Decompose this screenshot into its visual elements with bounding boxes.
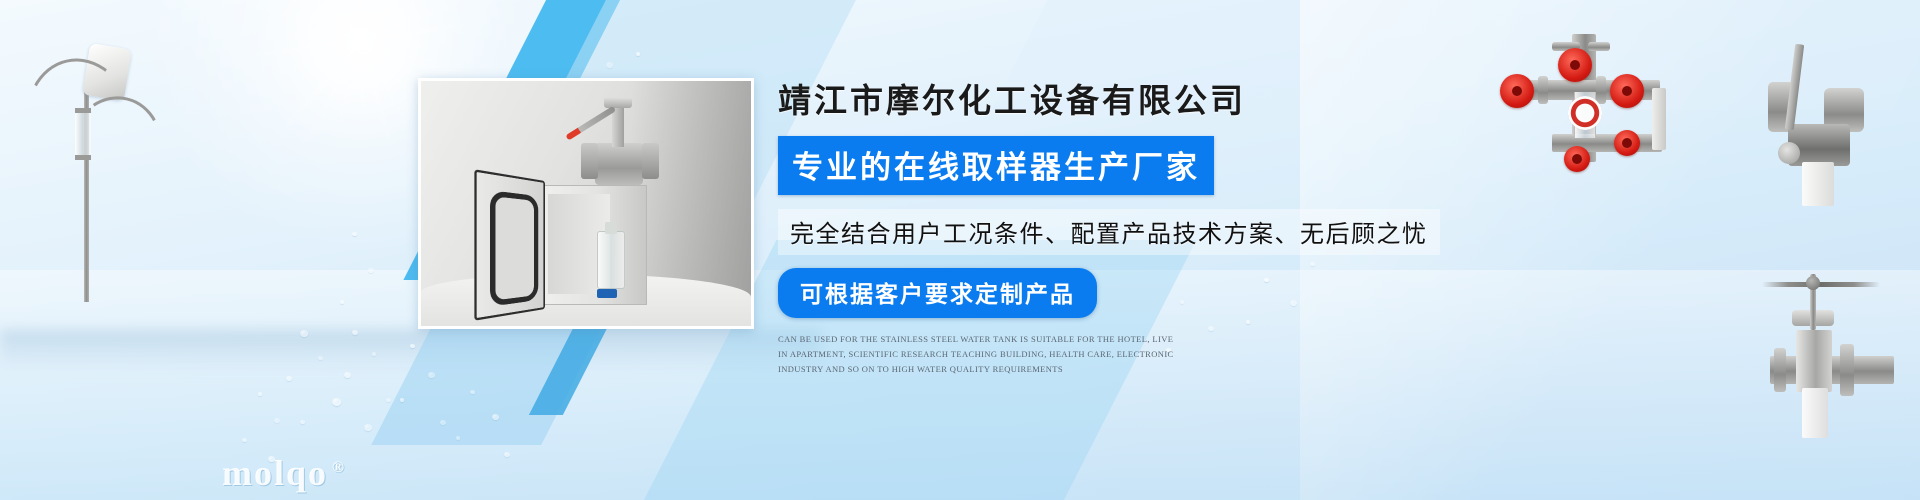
manifold-flange-right — [1596, 76, 1606, 104]
right-product-lever-valve — [1768, 30, 1898, 190]
water-droplet — [364, 424, 372, 431]
headline-badge: 专业的在线取样器生产厂家 — [778, 136, 1214, 195]
sun-ray — [306, 0, 414, 136]
water-droplet — [492, 414, 499, 420]
bottom-valve-pipe — [1770, 356, 1894, 384]
sun-ray — [324, 0, 397, 162]
relief-valve — [30, 172, 48, 198]
sample-bottle — [597, 231, 625, 289]
bottom-valve-flange-right — [1840, 344, 1854, 396]
sampler-valve-assembly — [581, 99, 659, 191]
water-droplet — [332, 398, 341, 406]
lever-valve-knob — [1778, 142, 1800, 164]
handwheel-bottom — [1564, 146, 1590, 172]
bottom-valve-handwheel-bar — [1762, 282, 1880, 287]
center-product-photo — [418, 78, 754, 329]
sun-ray — [298, 0, 423, 107]
right-product-manifold — [1492, 34, 1682, 164]
handwheel-lower — [1614, 130, 1640, 156]
handwheel-top — [1558, 48, 1592, 82]
water-droplet — [344, 372, 351, 378]
water-droplet — [340, 300, 344, 304]
valve-flange-left — [581, 143, 598, 179]
water-droplet — [400, 398, 404, 402]
water-droplet — [456, 436, 460, 440]
bottom-valve-hub — [1806, 276, 1820, 290]
bottom-valve-body — [1796, 330, 1832, 392]
sun-ray — [266, 29, 454, 52]
sun-ray — [303, 0, 416, 149]
left-product-sampler — [8, 22, 168, 302]
manifold-flange-top2 — [1588, 42, 1610, 51]
water-droplet — [372, 352, 376, 356]
manifold-outlet — [1652, 88, 1666, 150]
bottle-cap — [597, 289, 617, 298]
sun-ray — [334, 0, 387, 141]
right-product-bottom-valve — [1770, 270, 1900, 440]
watermark-text: molqo — [222, 453, 328, 493]
valve-knob — [604, 97, 632, 108]
water-droplet — [636, 52, 640, 56]
english-caption: CAN BE USED FOR THE STAINLESS STEEL WATE… — [778, 332, 1180, 377]
company-name: 靖江市摩尔化工设备有限公司 — [778, 74, 1398, 122]
cabinet-door — [474, 169, 545, 320]
brand-seal-icon — [1568, 96, 1602, 130]
handwheel-right — [1610, 74, 1644, 108]
water-droplet — [606, 62, 613, 68]
custom-product-pill: 可根据客户要求定制产品 — [778, 268, 1097, 318]
sun-ray — [253, 2, 468, 78]
water-droplet — [258, 392, 262, 396]
registered-mark-icon: ® — [332, 459, 346, 476]
bottom-valve-outlet — [1802, 388, 1828, 438]
text-column: 靖江市摩尔化工设备有限公司 专业的在线取样器生产厂家 完全结合用户工况条件、配置… — [778, 74, 1398, 377]
water-droplet — [300, 330, 308, 337]
lever-valve-outlet — [1802, 162, 1834, 206]
manifold-flange-left — [1538, 76, 1548, 104]
horizon-blur — [0, 330, 820, 370]
bottom-valve-flange-left — [1774, 348, 1786, 392]
sun-ray — [356, 0, 365, 126]
handwheel-left — [1500, 74, 1534, 108]
sun-ray — [250, 0, 469, 85]
hero-banner: 靖江市摩尔化工设备有限公司 专业的在线取样器生产厂家 完全结合用户工况条件、配置… — [0, 0, 1920, 500]
subheadline: 完全结合用户工况条件、配置产品技术方案、无后顾之忧 — [778, 209, 1440, 255]
cabinet-body — [539, 185, 647, 305]
valve-body — [595, 143, 643, 185]
watermark-logo: molqo® — [222, 452, 346, 494]
sun-ray — [225, 20, 495, 61]
valve-flange-right — [642, 143, 659, 179]
door-window — [490, 190, 538, 307]
sun-ray — [359, 0, 362, 125]
water-droplet — [352, 232, 357, 236]
water-droplet — [428, 372, 435, 378]
